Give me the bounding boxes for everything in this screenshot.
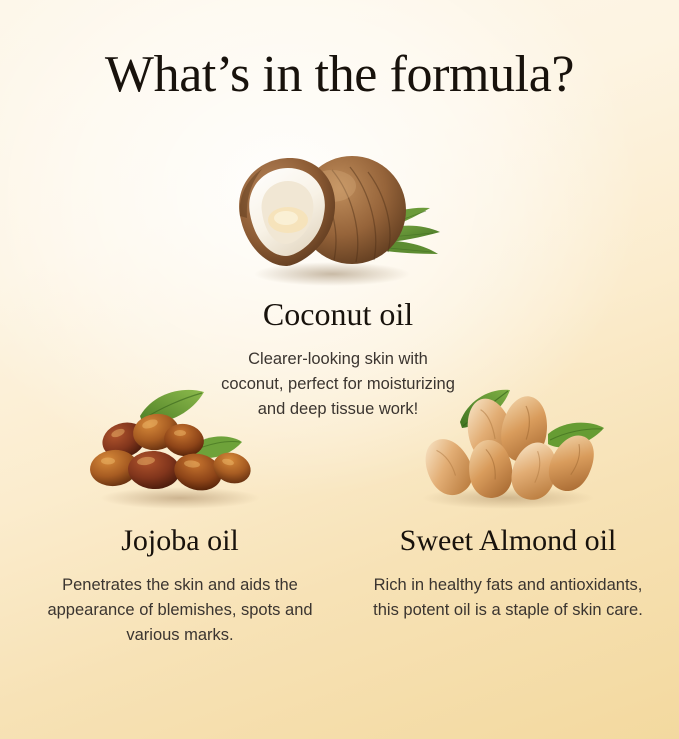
jojoba-fruit bbox=[127, 449, 182, 491]
ingredient-description-jojoba-oil: Penetrates the skin and aids the appeara… bbox=[20, 573, 340, 648]
ingredient-description-sweet-almond-oil: Rich in healthy fats and antioxidants, t… bbox=[348, 573, 668, 623]
ingredients-poster: What’s in the formula? bbox=[0, 0, 679, 739]
ingredient-card-coconut-oil: Coconut oil Clearer-looking skin with co… bbox=[188, 140, 488, 422]
coconut-photo bbox=[188, 140, 488, 290]
coconut-illustration bbox=[228, 140, 448, 290]
ingredient-title-sweet-almond-oil: Sweet Almond oil bbox=[348, 524, 668, 559]
ingredient-title-jojoba-oil: Jojoba oil bbox=[20, 524, 340, 559]
ingredient-description-coconut-oil: Clearer-looking skin with coconut, perfe… bbox=[188, 347, 488, 422]
ingredient-title-coconut-oil: Coconut oil bbox=[188, 296, 488, 333]
page-title: What’s in the formula? bbox=[0, 46, 679, 103]
